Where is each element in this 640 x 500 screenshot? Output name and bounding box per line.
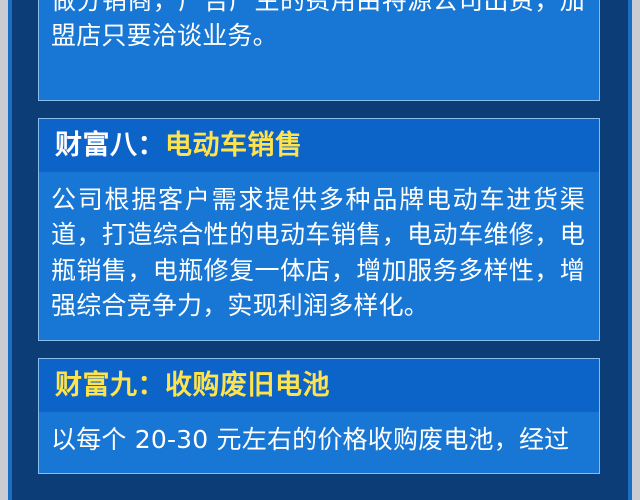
card-header-title: 收购废旧电池 bbox=[165, 370, 330, 401]
card-header-prefix: 财富九： bbox=[55, 370, 165, 401]
card-wealth-nine: 财富九：收购废旧电池 以每个 20-30 元左右的价格收购废电池，经过 bbox=[38, 358, 600, 475]
right-edge-rail bbox=[628, 0, 632, 500]
card-header: 财富八：电动车销售 bbox=[39, 119, 599, 172]
card-wealth-eight: 财富八：电动车销售 公司根据客户需求提供多种品牌电动车进货渠道，打造综合性的电动… bbox=[38, 118, 600, 341]
card-body-text: 加盟店免费代理，可以发展当地的电动车维修店做分销商，广告产生的费用由特源公司出资… bbox=[39, 0, 599, 100]
card-body-text: 以每个 20-30 元左右的价格收购废电池，经过 bbox=[39, 412, 599, 474]
card-header-title: 电动车销售 bbox=[165, 130, 303, 161]
card-stack: 加盟店免费代理，可以发展当地的电动车维修店做分销商，广告产生的费用由特源公司出资… bbox=[38, 0, 600, 491]
card-header-prefix: 财富八： bbox=[55, 130, 165, 161]
card-header: 财富九：收购废旧电池 bbox=[39, 359, 599, 412]
poster-page: 加盟店免费代理，可以发展当地的电动车维修店做分销商，广告产生的费用由特源公司出资… bbox=[0, 0, 640, 500]
card-body-text: 公司根据客户需求提供多种品牌电动车进货渠道，打造综合性的电动车销售，电动车维修，… bbox=[39, 172, 599, 340]
poster-canvas: 加盟店免费代理，可以发展当地的电动车维修店做分销商，广告产生的费用由特源公司出资… bbox=[12, 0, 628, 500]
card-franchise-agency: 加盟店免费代理，可以发展当地的电动车维修店做分销商，广告产生的费用由特源公司出资… bbox=[38, 0, 600, 101]
